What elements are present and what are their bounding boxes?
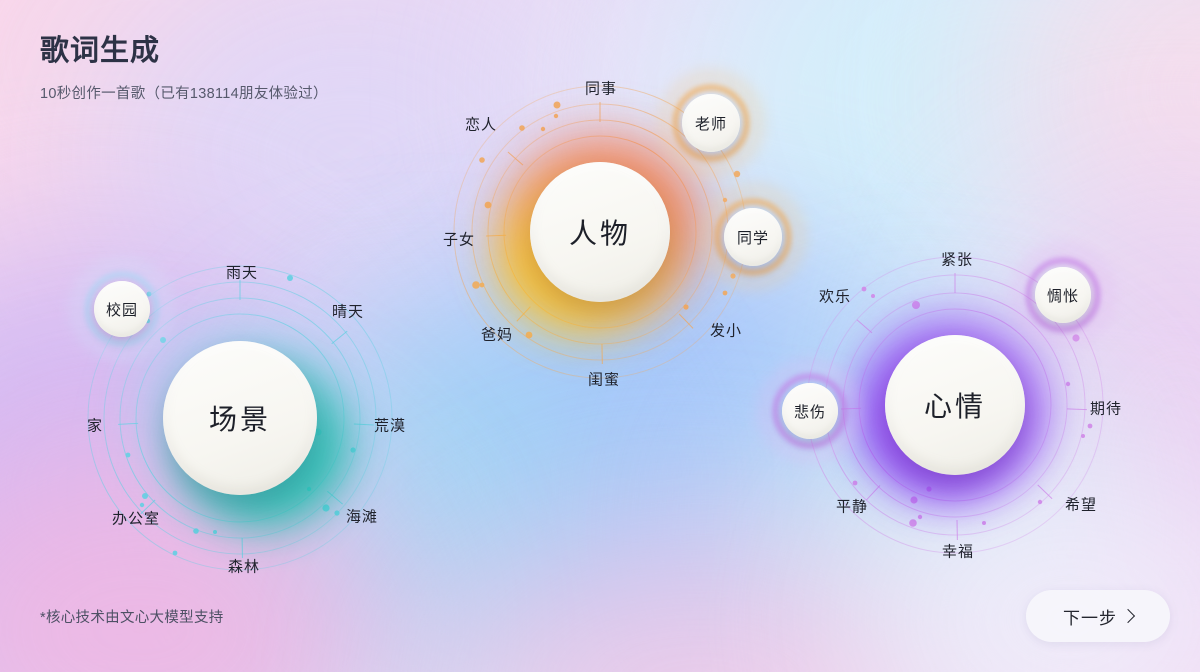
orbit-tick bbox=[1067, 409, 1087, 410]
orbit-dot bbox=[871, 294, 875, 298]
orbit-label-scene[interactable]: 森林 bbox=[228, 556, 260, 577]
hub-label: 人物 bbox=[569, 212, 631, 252]
cluster-mood: 心情惆怅悲伤紧张欢乐平静幸福希望期待 bbox=[0, 0, 1200, 672]
orbit-label-people[interactable]: 同事 bbox=[585, 78, 617, 99]
orbit-dot bbox=[853, 481, 858, 486]
orbit-label-people[interactable]: 恋人 bbox=[465, 114, 497, 135]
selected-chip-mood[interactable]: 惆怅 bbox=[1035, 267, 1091, 323]
orbit-label-scene[interactable]: 晴天 bbox=[332, 301, 364, 322]
chevron-right-icon bbox=[1121, 608, 1135, 622]
tech-footnote: *核心技术由文心大模型支持 bbox=[40, 606, 224, 627]
orbit-label-people[interactable]: 爸妈 bbox=[481, 324, 513, 345]
orbit-dot bbox=[1088, 424, 1093, 429]
chip-label: 悲伤 bbox=[794, 401, 826, 422]
orbit-label-people[interactable]: 发小 bbox=[710, 320, 742, 341]
orbit-label-people[interactable]: 闺蜜 bbox=[588, 369, 620, 390]
orbit-dot bbox=[910, 496, 917, 503]
orbit-dot bbox=[918, 515, 922, 519]
orbit-label-mood[interactable]: 紧张 bbox=[941, 249, 973, 270]
orbit-label-mood[interactable]: 希望 bbox=[1065, 494, 1097, 515]
hub-mood[interactable]: 心情 bbox=[885, 335, 1025, 475]
hub-scene[interactable]: 场景 bbox=[163, 341, 317, 495]
orbit-dot bbox=[1066, 382, 1070, 386]
chip-label: 老师 bbox=[695, 113, 727, 134]
orbit-dot bbox=[982, 521, 986, 525]
next-step-button[interactable]: 下一步 bbox=[1026, 590, 1170, 642]
lyrics-generator-screen: 歌词生成 10秒创作一首歌（已有138114朋友体验过） 人物老师同学同事恋人子… bbox=[0, 0, 1200, 672]
orbit-label-scene[interactable]: 雨天 bbox=[226, 262, 258, 283]
orbit-label-scene[interactable]: 荒漠 bbox=[374, 415, 406, 436]
hub-label: 场景 bbox=[209, 398, 271, 438]
orbit-tick bbox=[866, 485, 880, 500]
orbit-dot bbox=[909, 519, 917, 527]
orbit-dot bbox=[862, 287, 867, 292]
orbit-label-scene[interactable]: 海滩 bbox=[346, 506, 378, 527]
selected-chip-mood[interactable]: 悲伤 bbox=[782, 383, 838, 439]
orbit-label-mood[interactable]: 期待 bbox=[1090, 398, 1122, 419]
selected-chip-people[interactable]: 同学 bbox=[724, 208, 782, 266]
orbit-rings-mood bbox=[0, 0, 1200, 672]
orbit-label-people[interactable]: 子女 bbox=[443, 229, 475, 250]
orbit-dot bbox=[1081, 434, 1085, 438]
orbit-dot bbox=[1038, 500, 1042, 504]
hub-people[interactable]: 人物 bbox=[530, 162, 670, 302]
orbit-label-scene[interactable]: 家 bbox=[87, 415, 103, 436]
orbit-tick bbox=[1038, 485, 1052, 499]
orbit-label-mood[interactable]: 平静 bbox=[836, 496, 868, 517]
orbit-label-scene[interactable]: 办公室 bbox=[112, 508, 160, 529]
chip-label: 同学 bbox=[737, 227, 769, 248]
orbit-label-mood[interactable]: 幸福 bbox=[942, 541, 974, 562]
orbit-dot bbox=[912, 301, 920, 309]
orbit-tick bbox=[857, 320, 872, 333]
selected-chip-scene[interactable]: 校园 bbox=[94, 281, 150, 337]
chip-label: 校园 bbox=[106, 299, 138, 320]
chip-label: 惆怅 bbox=[1047, 285, 1079, 306]
hub-label: 心情 bbox=[924, 385, 986, 425]
orbit-label-mood[interactable]: 欢乐 bbox=[819, 286, 851, 307]
next-step-label: 下一步 bbox=[1063, 604, 1117, 629]
selected-chip-people[interactable]: 老师 bbox=[682, 94, 740, 152]
